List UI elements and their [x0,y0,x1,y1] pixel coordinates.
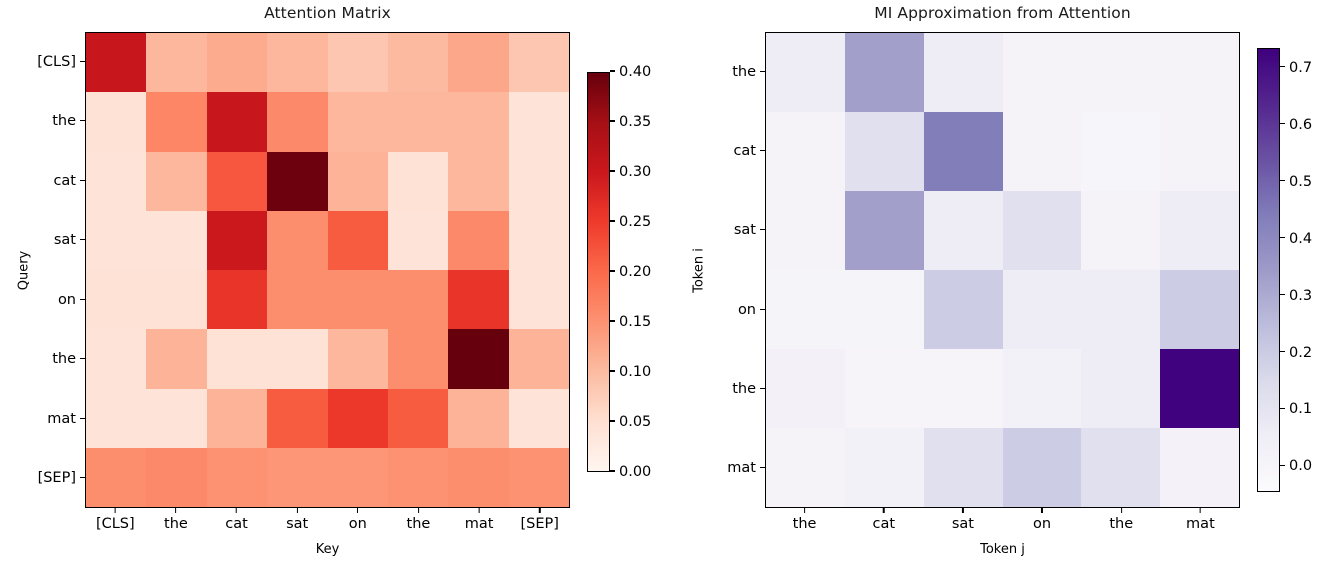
heatmap-cell [1160,349,1239,428]
attention-matrix-y-tick-labels: [CLS]thecatsatonthemat[SEP] [0,32,85,508]
mi-approximation-ylabel: Token i [692,241,707,301]
heatmap-cell [328,211,388,270]
colorbar-tick-label: 0.2 [1280,345,1312,361]
heatmap-cell [207,152,267,211]
heatmap-cell [509,92,569,151]
heatmap-cell [388,211,448,270]
heatmap-cell [448,270,508,329]
heatmap-cell [509,33,569,92]
colorbar-tick-label: 0.7 [1280,60,1312,76]
heatmap-cell [146,211,206,270]
y-tick-label: the [732,64,765,80]
attention-heatmap-grid [86,33,569,507]
heatmap-cell [845,191,924,270]
heatmap-cell [924,270,1003,349]
heatmap-cell [267,448,327,507]
heatmap-cell [766,191,845,270]
x-tick-label: the [1109,508,1133,532]
attention-matrix-colorbar-ticks: 0.000.050.100.150.200.250.300.350.40 [610,72,667,472]
colorbar-tick-label: 0.05 [610,414,651,430]
heatmap-cell [766,428,845,507]
x-tick-label: [SEP] [520,508,558,532]
heatmap-cell [388,329,448,388]
heatmap-cell [1160,112,1239,191]
heatmap-cell [267,33,327,92]
heatmap-cell [86,152,146,211]
heatmap-cell [1081,33,1160,112]
heatmap-cell [1081,191,1160,270]
colorbar-tick-label: 0.0 [1280,458,1312,474]
heatmap-cell [86,33,146,92]
heatmap-cell [1160,191,1239,270]
heatmap-cell [1160,33,1239,112]
attention-matrix-ylabel: Query [17,241,32,301]
heatmap-cell [448,92,508,151]
heatmap-cell [146,389,206,448]
heatmap-cell [1003,270,1082,349]
heatmap-cell [328,270,388,329]
heatmap-cell [509,211,569,270]
heatmap-cell [845,428,924,507]
heatmap-cell [1081,270,1160,349]
heatmap-cell [388,152,448,211]
heatmap-cell [448,33,508,92]
matplotlib-figure: Attention Matrix [CLS]thecatsatonthemat[… [0,0,1334,568]
heatmap-cell [845,349,924,428]
heatmap-cell [448,389,508,448]
heatmap-cell [766,349,845,428]
x-tick-label: the [793,508,817,532]
y-tick-label: cat [733,143,765,159]
heatmap-cell [845,33,924,112]
heatmap-cell [146,448,206,507]
heatmap-cell [86,270,146,329]
mi-approximation-title: MI Approximation from Attention [765,4,1240,22]
heatmap-cell [845,112,924,191]
attention-matrix-axes [85,32,570,508]
heatmap-cell [267,92,327,151]
heatmap-cell [1003,428,1082,507]
colorbar-tick-label: 0.40 [610,64,651,80]
heatmap-cell [388,33,448,92]
heatmap-cell [1003,349,1082,428]
heatmap-cell [509,448,569,507]
colorbar-tick-label: 0.30 [610,164,651,180]
x-tick-label: on [349,508,367,532]
heatmap-cell [267,152,327,211]
heatmap-cell [766,270,845,349]
y-tick-label: sat [54,232,85,248]
heatmap-cell [448,211,508,270]
heatmap-cell [766,33,845,112]
heatmap-cell [207,389,267,448]
heatmap-cell [509,270,569,329]
colorbar-tick-label: 0.15 [610,314,651,330]
attention-matrix-xlabel: Key [85,542,570,557]
heatmap-cell [924,349,1003,428]
heatmap-cell [86,448,146,507]
heatmap-cell [1003,112,1082,191]
x-tick-label: [CLS] [96,508,135,532]
y-tick-label: sat [734,222,765,238]
heatmap-cell [924,33,1003,112]
colorbar-tick-label: 0.00 [610,464,651,480]
heatmap-cell [1081,349,1160,428]
heatmap-cell [845,270,924,349]
heatmap-cell [328,389,388,448]
colorbar-tick-label: 0.25 [610,214,651,230]
heatmap-cell [146,329,206,388]
y-tick-label: on [738,302,765,318]
heatmap-cell [267,389,327,448]
heatmap-cell [86,329,146,388]
heatmap-cell [328,33,388,92]
mi-approximation-xlabel: Token j [765,542,1240,557]
heatmap-cell [448,152,508,211]
colorbar-tick-label: 0.6 [1280,117,1312,133]
mi-heatmap-grid [766,33,1239,507]
x-tick-label: the [164,508,188,532]
heatmap-cell [146,152,206,211]
heatmap-cell [146,92,206,151]
colorbar-tick-label: 0.10 [610,364,651,380]
x-tick-label: sat [286,508,308,532]
heatmap-cell [1003,33,1082,112]
y-tick-label: mat [47,411,85,427]
heatmap-cell [1160,270,1239,349]
y-tick-label: mat [727,460,765,476]
heatmap-cell [207,211,267,270]
heatmap-cell [1081,112,1160,191]
heatmap-cell [1003,191,1082,270]
panel-mi-approximation: MI Approximation from Attention thecatsa… [667,0,1334,568]
mi-approximation-colorbar [1257,48,1280,492]
colorbar-tick-label: 0.4 [1280,231,1312,247]
heatmap-cell [388,270,448,329]
x-tick-label: the [407,508,431,532]
attention-matrix-title: Attention Matrix [85,4,570,22]
heatmap-cell [1081,428,1160,507]
heatmap-cell [207,448,267,507]
x-tick-label: mat [465,508,494,532]
heatmap-cell [924,112,1003,191]
heatmap-cell [146,270,206,329]
y-tick-label: the [732,381,765,397]
heatmap-cell [207,33,267,92]
colorbar-tick-label: 0.20 [610,264,651,280]
heatmap-cell [207,270,267,329]
heatmap-cell [924,428,1003,507]
y-tick-label: [CLS] [37,54,85,70]
heatmap-cell [86,211,146,270]
heatmap-cell [207,329,267,388]
mi-approximation-colorbar-ticks: 0.00.10.20.30.40.50.60.7 [1280,48,1334,492]
colorbar-tick-label: 0.5 [1280,174,1312,190]
heatmap-cell [509,152,569,211]
heatmap-cell [86,92,146,151]
y-tick-label: cat [53,173,85,189]
heatmap-cell [388,389,448,448]
heatmap-cell [448,329,508,388]
x-tick-label: sat [952,508,974,532]
x-tick-label: cat [225,508,248,532]
heatmap-cell [448,448,508,507]
attention-matrix-colorbar [587,72,610,472]
mi-approximation-axes [765,32,1240,508]
heatmap-cell [328,152,388,211]
heatmap-cell [388,448,448,507]
heatmap-cell [509,329,569,388]
x-tick-label: mat [1186,508,1215,532]
heatmap-cell [207,92,267,151]
heatmap-cell [267,211,327,270]
heatmap-cell [328,92,388,151]
y-tick-label: [SEP] [38,470,85,486]
colorbar-tick-label: 0.1 [1280,401,1312,417]
heatmap-cell [328,329,388,388]
colorbar-tick-label: 0.3 [1280,288,1312,304]
heatmap-cell [328,448,388,507]
colorbar-tick-label: 0.35 [610,114,651,130]
heatmap-cell [267,270,327,329]
panel-attention-matrix: Attention Matrix [CLS]thecatsatonthemat[… [0,0,667,568]
y-tick-label: the [52,113,85,129]
heatmap-cell [388,92,448,151]
heatmap-cell [924,191,1003,270]
y-tick-label: the [52,351,85,367]
x-tick-label: on [1033,508,1051,532]
heatmap-cell [1160,428,1239,507]
heatmap-cell [766,112,845,191]
heatmap-cell [86,389,146,448]
y-tick-label: on [58,292,85,308]
x-tick-label: cat [872,508,895,532]
heatmap-cell [267,329,327,388]
heatmap-cell [509,389,569,448]
heatmap-cell [146,33,206,92]
